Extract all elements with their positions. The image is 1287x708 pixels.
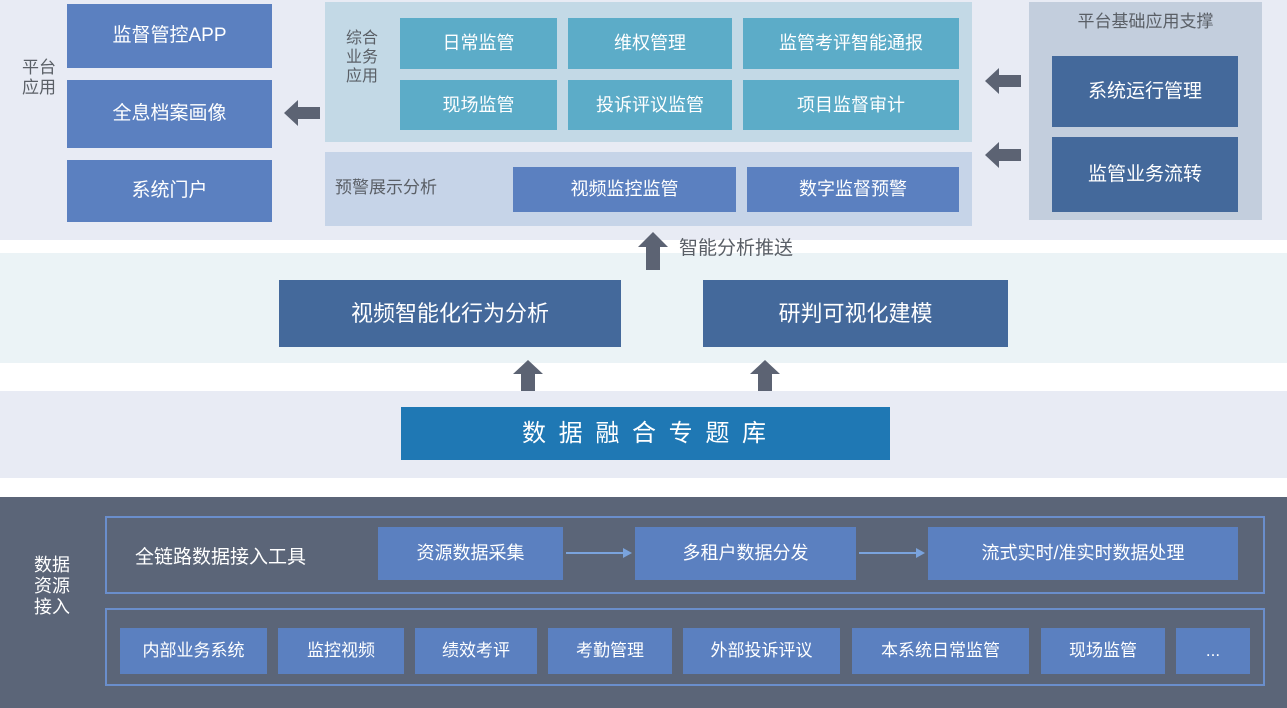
warning-analysis-side-label: 预警展示分析 — [335, 178, 495, 198]
data-access-tools-label: 全链路数据接入工具 — [135, 538, 306, 572]
analysis-box-1[interactable]: 研判可视化建模 — [703, 280, 1008, 347]
data-source-box-0[interactable]: 内部业务系统 — [120, 628, 267, 674]
tools-step-2[interactable]: 流式实时/准实时数据处理 — [928, 527, 1238, 580]
platform-support-box-1[interactable]: 监管业务流转 — [1052, 137, 1238, 212]
data-source-box-1[interactable]: 监控视频 — [278, 628, 404, 674]
intelligent-push-label: 智能分析推送 — [679, 238, 909, 260]
platform-support-title: 平台基础应用支撑 — [1029, 12, 1262, 32]
platform-app-box-0[interactable]: 监督管控APP — [67, 4, 272, 68]
platform-app-box-2[interactable]: 系统门户 — [67, 160, 272, 222]
arrow-up-to-video-analysis — [512, 360, 544, 394]
business-app-box-1[interactable]: 维权管理 — [568, 18, 732, 69]
data-source-box-7[interactable]: ... — [1176, 628, 1250, 674]
business-application-side-label: 综合 业务 应用 — [333, 30, 391, 87]
business-app-box-4[interactable]: 投诉评议监管 — [568, 80, 732, 130]
tools-step-1[interactable]: 多租户数据分发 — [635, 527, 856, 580]
arrow-up-intelligent-push — [637, 232, 669, 270]
platform-app-box-1[interactable]: 全息档案画像 — [67, 80, 272, 148]
data-source-box-6[interactable]: 现场监管 — [1041, 628, 1165, 674]
data-source-box-5[interactable]: 本系统日常监管 — [852, 628, 1029, 674]
analysis-box-0[interactable]: 视频智能化行为分析 — [279, 280, 621, 347]
business-app-box-0[interactable]: 日常监管 — [400, 18, 557, 69]
arrow-up-to-visual-modeling — [749, 360, 781, 394]
flow-line-1 — [859, 552, 917, 554]
arrow-left-to-support-upper — [985, 66, 1021, 96]
architecture-diagram: 平台 应用 监督管控APP 全息档案画像 系统门户 综合 业务 应用 日常监管 … — [0, 0, 1287, 708]
arrow-left-to-support-lower — [985, 140, 1021, 170]
tools-step-0[interactable]: 资源数据采集 — [378, 527, 563, 580]
flow-line-0 — [566, 552, 624, 554]
business-app-box-5[interactable]: 项目监督审计 — [743, 80, 959, 130]
data-source-side-label: 数据 资源 接入 — [14, 555, 90, 619]
platform-application-side-label: 平台 应用 — [8, 58, 70, 98]
data-source-box-4[interactable]: 外部投诉评议 — [683, 628, 840, 674]
warning-analysis-box-1[interactable]: 数字监督预警 — [747, 167, 959, 212]
data-fusion-box[interactable]: 数 据 融 合 专 题 库 — [401, 407, 890, 460]
business-app-box-2[interactable]: 监管考评智能通报 — [743, 18, 959, 69]
platform-support-box-0[interactable]: 系统运行管理 — [1052, 56, 1238, 127]
flow-arrowhead-0 — [623, 548, 632, 558]
flow-arrowhead-1 — [916, 548, 925, 558]
data-source-box-3[interactable]: 考勤管理 — [548, 628, 672, 674]
data-source-box-2[interactable]: 绩效考评 — [415, 628, 537, 674]
warning-analysis-box-0[interactable]: 视频监控监管 — [513, 167, 736, 212]
arrow-left-to-platform-app — [284, 98, 320, 128]
business-app-box-3[interactable]: 现场监管 — [400, 80, 557, 130]
